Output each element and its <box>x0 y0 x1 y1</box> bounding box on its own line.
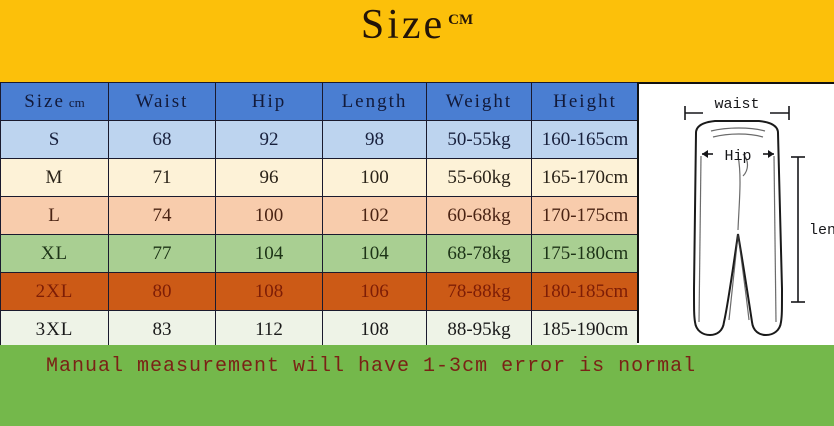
cell-length: 108 <box>323 311 427 349</box>
cell-waist: 83 <box>109 311 216 349</box>
column-header-size-label: Size <box>24 91 65 112</box>
cell-weight: 68-78kg <box>427 235 532 273</box>
cell-waist: 74 <box>109 197 216 235</box>
cell-size: S <box>1 121 109 159</box>
cell-height: 165-170cm <box>532 159 639 197</box>
cell-weight: 88-95kg <box>427 311 532 349</box>
column-header-hip: Hip <box>216 83 323 121</box>
hip-dimension-label: Hip <box>724 148 751 165</box>
cell-length: 102 <box>323 197 427 235</box>
column-header-size: Sizecm <box>1 83 109 121</box>
size-chart-image: SizeCM Sizecm Waist Hip Length Weight He… <box>0 0 834 426</box>
table-row: XL 77 104 104 68-78kg 175-180cm <box>1 235 639 273</box>
cell-height: 185-190cm <box>532 311 639 349</box>
cell-height: 175-180cm <box>532 235 639 273</box>
waist-dimension-label: waist <box>714 96 759 113</box>
table-body: S 68 92 98 50-55kg 160-165cm M 71 96 100… <box>1 121 639 349</box>
cell-length: 104 <box>323 235 427 273</box>
cell-hip: 112 <box>216 311 323 349</box>
measurement-note: Manual measurement will have 1-3cm error… <box>46 355 746 378</box>
cell-waist: 71 <box>109 159 216 197</box>
cell-weight: 60-68kg <box>427 197 532 235</box>
cell-weight: 55-60kg <box>427 159 532 197</box>
cell-waist: 80 <box>109 273 216 311</box>
column-header-length: Length <box>323 83 427 121</box>
cell-hip: 92 <box>216 121 323 159</box>
cell-size: M <box>1 159 109 197</box>
size-table: Sizecm Waist Hip Length Weight Height S … <box>0 82 639 349</box>
cell-weight: 50-55kg <box>427 121 532 159</box>
cell-hip: 100 <box>216 197 323 235</box>
cell-height: 160-165cm <box>532 121 639 159</box>
table-header: Sizecm Waist Hip Length Weight Height <box>1 83 639 121</box>
table-header-row: Sizecm Waist Hip Length Weight Height <box>1 83 639 121</box>
cell-length: 100 <box>323 159 427 197</box>
cell-hip: 108 <box>216 273 323 311</box>
pants-diagram-panel: waist Hip <box>637 82 834 345</box>
pants-diagram-icon: waist Hip <box>639 84 834 345</box>
cell-length: 98 <box>323 121 427 159</box>
column-header-height: Height <box>532 83 639 121</box>
length-dimension <box>791 157 805 302</box>
column-header-weight: Weight <box>427 83 532 121</box>
page-title: SizeCM <box>0 4 834 46</box>
table-row: S 68 92 98 50-55kg 160-165cm <box>1 121 639 159</box>
cell-height: 180-185cm <box>532 273 639 311</box>
table-row: M 71 96 100 55-60kg 165-170cm <box>1 159 639 197</box>
column-header-waist: Waist <box>109 83 216 121</box>
title-unit: CM <box>448 12 473 28</box>
size-table-container: Sizecm Waist Hip Length Weight Height S … <box>0 82 638 345</box>
table-row: L 74 100 102 60-68kg 170-175cm <box>1 197 639 235</box>
length-dimension-label: length <box>809 222 834 239</box>
cell-weight: 78-88kg <box>427 273 532 311</box>
cell-size: 2XL <box>1 273 109 311</box>
cell-size: L <box>1 197 109 235</box>
cell-size: XL <box>1 235 109 273</box>
cell-height: 170-175cm <box>532 197 639 235</box>
cell-hip: 96 <box>216 159 323 197</box>
cell-waist: 77 <box>109 235 216 273</box>
table-row: 3XL 83 112 108 88-95kg 185-190cm <box>1 311 639 349</box>
cell-length: 106 <box>323 273 427 311</box>
cell-size: 3XL <box>1 311 109 349</box>
table-row: 2XL 80 108 106 78-88kg 180-185cm <box>1 273 639 311</box>
top-banner: SizeCM <box>0 0 834 82</box>
cell-waist: 68 <box>109 121 216 159</box>
title-text: Size <box>361 2 445 48</box>
cell-hip: 104 <box>216 235 323 273</box>
column-header-size-unit: cm <box>69 95 85 110</box>
